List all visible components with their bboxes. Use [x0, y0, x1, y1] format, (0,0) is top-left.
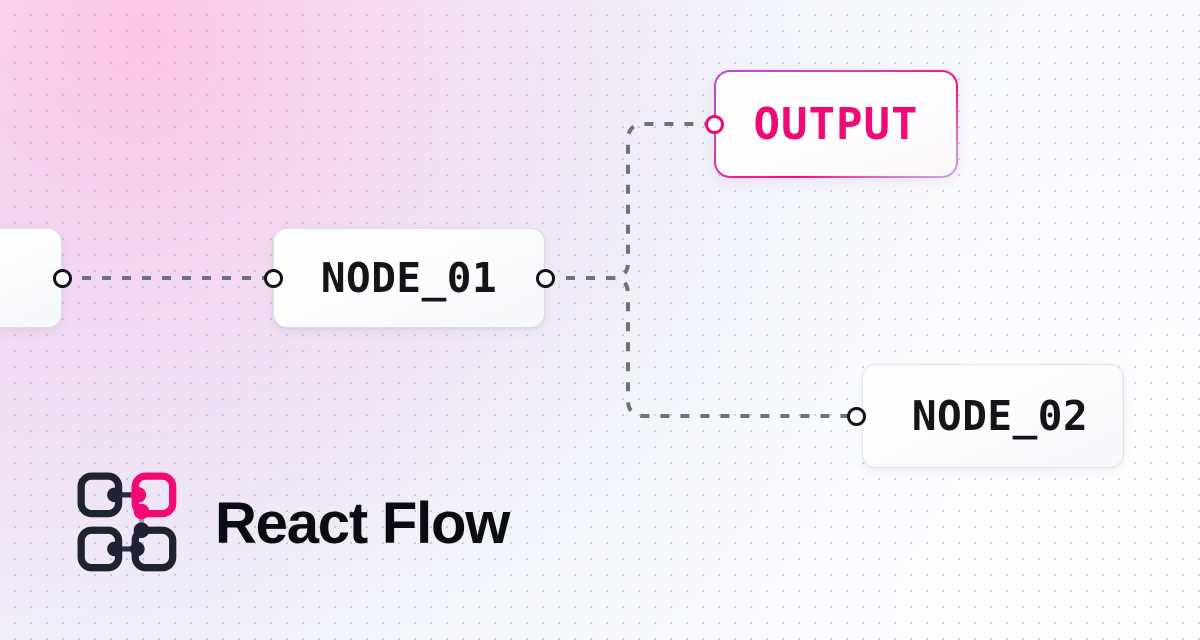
node-node-02[interactable]: NODE_02: [862, 364, 1124, 468]
handle-node-01-source[interactable]: [536, 269, 555, 288]
react-flow-logo-mark: [77, 472, 181, 576]
react-flow-canvas[interactable]: NODE_01 OUTPUT NODE_02: [0, 0, 1200, 640]
handle-output-target[interactable]: [705, 115, 724, 134]
handle-node-01-target[interactable]: [264, 269, 283, 288]
handle-partial-source[interactable]: [53, 269, 72, 288]
edge-node01-node02[interactable]: [546, 278, 861, 416]
handle-node-02-target[interactable]: [847, 407, 866, 426]
node-node-01[interactable]: NODE_01: [273, 228, 545, 328]
edge-node01-output[interactable]: [546, 124, 713, 278]
node-output[interactable]: OUTPUT: [714, 70, 958, 178]
node-02-label: NODE_02: [912, 392, 1088, 440]
react-flow-logo[interactable]: React Flow: [77, 472, 509, 576]
react-flow-wordmark: React Flow: [215, 495, 509, 553]
node-output-label: OUTPUT: [754, 99, 919, 150]
node-01-label: NODE_01: [321, 254, 497, 302]
